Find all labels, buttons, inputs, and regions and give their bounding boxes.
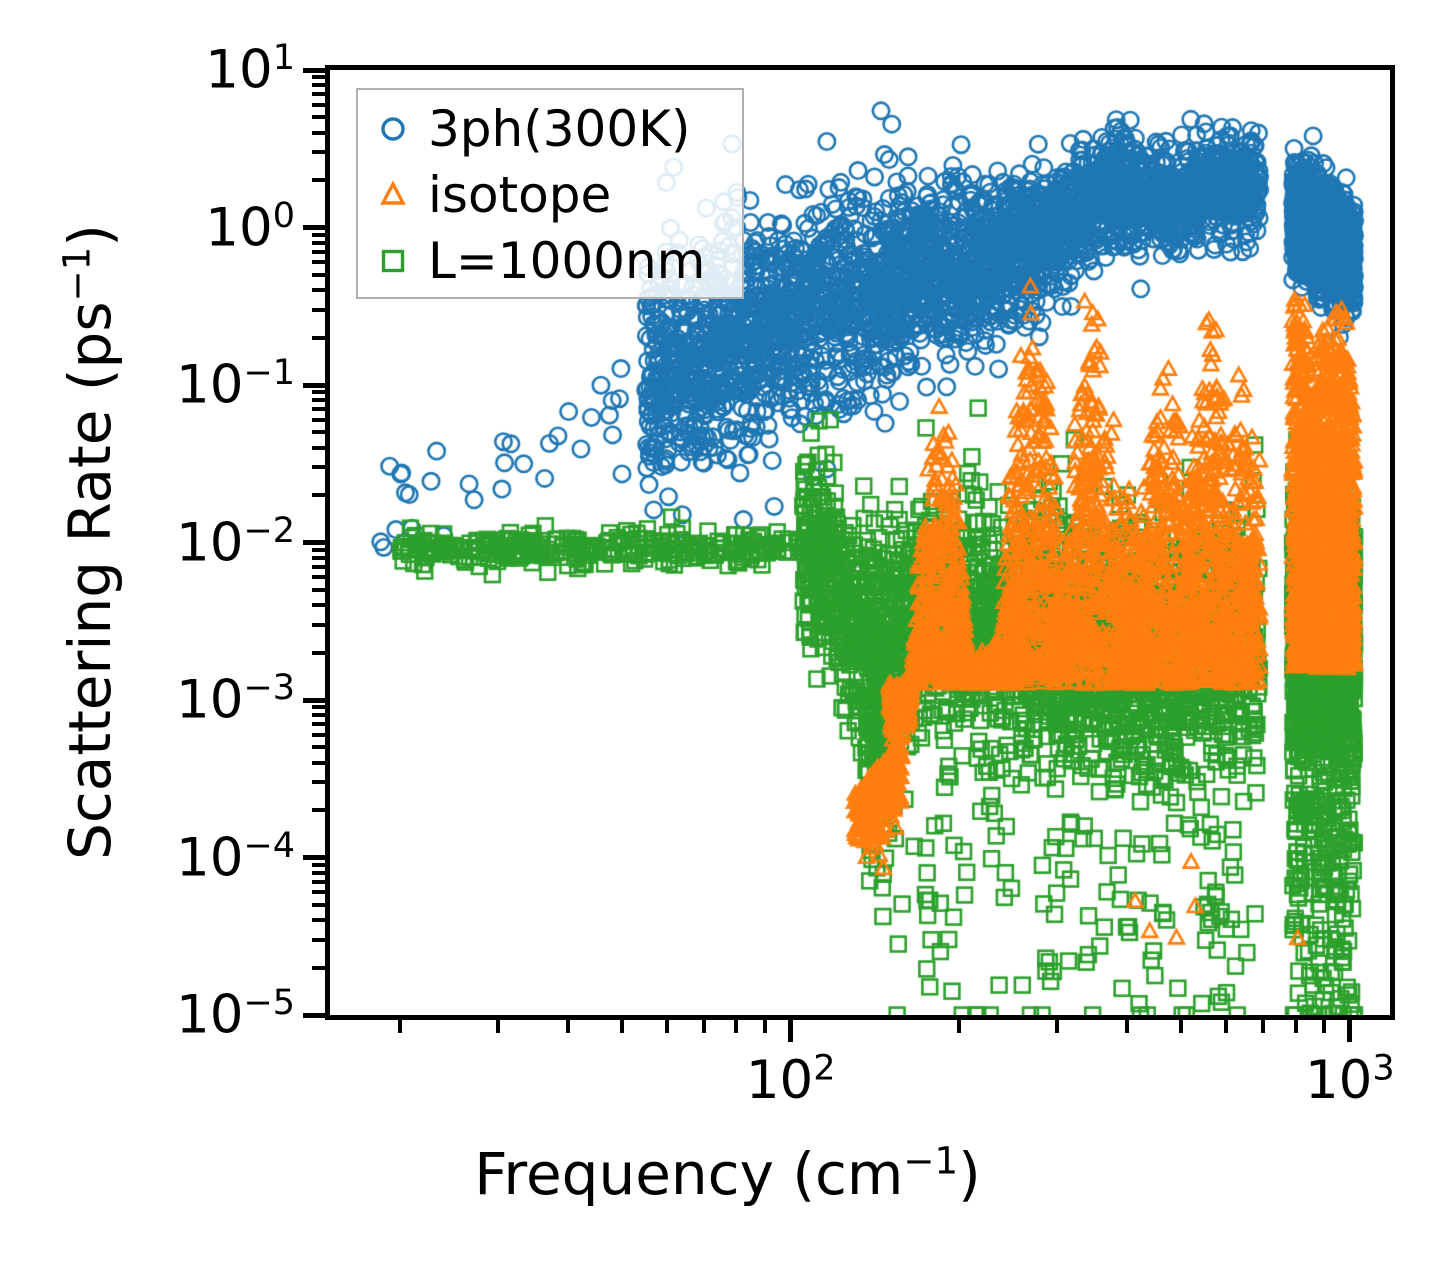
x-tick-minor [398, 1020, 402, 1033]
y-tick-label: 100 [205, 197, 295, 258]
legend-label-boundary: L=1000nm [428, 236, 705, 286]
legend-entry-boundary[interactable]: L=1000nm [358, 228, 742, 294]
y-tick-minor [312, 548, 325, 552]
y-tick-minor [312, 745, 325, 749]
y-tick-minor [312, 808, 325, 812]
y-tick-major [303, 225, 325, 230]
y-tick-label: 10−1 [176, 355, 295, 416]
y-tick-minor [312, 336, 325, 340]
x-tick-minor [702, 1020, 706, 1033]
y-tick-minor [312, 565, 325, 569]
y-tick-major [303, 383, 325, 388]
y-tick-major [303, 698, 325, 703]
y-tick-minor [312, 273, 325, 277]
y-tick-label-exponent: −4 [243, 825, 295, 865]
y-tick-label-base: 10 [205, 40, 272, 101]
square-marker-icon [358, 228, 428, 294]
x-tick-minor [1294, 1020, 1298, 1033]
x-tick-minor [734, 1020, 738, 1033]
y-tick-major [303, 540, 325, 545]
y-tick-minor [312, 890, 325, 894]
y-tick-minor [312, 233, 325, 237]
y-tick-label: 101 [205, 40, 295, 101]
x-tick-label: 103 [1305, 1050, 1395, 1111]
x-tick-minor [620, 1020, 624, 1033]
y-tick-label-exponent: −2 [243, 510, 295, 550]
y-tick-minor [312, 871, 325, 875]
x-axis-title-base: Frequency (cm [474, 1140, 903, 1208]
y-tick-minor [312, 575, 325, 579]
x-tick-minor [763, 1020, 767, 1033]
x-tick-minor [566, 1020, 570, 1033]
y-tick-minor [312, 115, 325, 119]
x-tick-minor [1055, 1020, 1059, 1033]
y-tick-label: 10−5 [176, 985, 295, 1046]
y-tick-label-base: 10 [205, 197, 272, 258]
y-tick-minor [312, 83, 325, 87]
y-tick-label: 10−2 [176, 512, 295, 573]
y-tick-minor [312, 588, 325, 592]
y-tick-minor [312, 241, 325, 245]
y-tick-minor [312, 446, 325, 450]
x-tick-major [788, 1020, 793, 1042]
y-tick-minor [312, 918, 325, 922]
y-tick-label-base: 10 [176, 827, 243, 888]
y-tick-minor [312, 407, 325, 411]
scatter-plot-figure: 10110010−110−210−310−410−5102103 3ph(300… [0, 0, 1455, 1271]
y-tick-minor [312, 398, 325, 402]
x-tick-major [1347, 1020, 1352, 1042]
y-axis-title: Scattering Rate (ps−1) [56, 142, 124, 942]
legend-entry-isotope[interactable]: isotope [358, 162, 742, 228]
x-tick-minor [957, 1020, 961, 1033]
y-tick-minor [312, 493, 325, 497]
y-tick-minor [312, 260, 325, 264]
legend-label-isotope: isotope [428, 170, 611, 220]
y-tick-minor [312, 705, 325, 709]
y-tick-label-exponent: −5 [243, 983, 295, 1023]
x-tick-label-base: 10 [1305, 1050, 1372, 1111]
x-axis-title: Frequency (cm−1) [0, 1140, 1455, 1208]
y-tick-label-base: 10 [176, 355, 243, 416]
y-tick-major [303, 855, 325, 860]
y-tick-minor [312, 780, 325, 784]
y-tick-minor [312, 288, 325, 292]
y-tick-minor [312, 308, 325, 312]
y-tick-major [303, 1013, 325, 1018]
y-tick-minor [312, 250, 325, 254]
y-tick-minor [312, 465, 325, 469]
x-tick-minor [1224, 1020, 1228, 1033]
x-tick-label-exponent: 2 [813, 1048, 835, 1088]
y-tick-label-exponent: −1 [243, 353, 295, 393]
y-tick-label-exponent: 1 [273, 38, 295, 78]
x-tick-label-base: 10 [746, 1050, 813, 1111]
y-tick-minor [312, 733, 325, 737]
y-tick-minor [312, 418, 325, 422]
y-axis-title-tail: ) [56, 224, 124, 247]
y-tick-minor [312, 390, 325, 394]
y-tick-minor [312, 722, 325, 726]
x-tick-minor [665, 1020, 669, 1033]
y-tick-minor [312, 178, 325, 182]
y-tick-minor [312, 880, 325, 884]
legend-box[interactable]: 3ph(300K) isotope L=1000nm [356, 88, 744, 299]
y-tick-minor [312, 150, 325, 154]
y-tick-label-base: 10 [176, 985, 243, 1046]
y-tick-minor [312, 131, 325, 135]
y-tick-minor [312, 103, 325, 107]
x-tick-minor [1261, 1020, 1265, 1033]
y-tick-minor [312, 938, 325, 942]
circle-marker-icon [358, 96, 428, 162]
legend-label-3ph: 3ph(300K) [428, 104, 690, 154]
y-tick-minor [312, 713, 325, 717]
y-tick-minor [312, 651, 325, 655]
y-tick-label: 10−3 [176, 670, 295, 731]
x-axis-title-tail: ) [958, 1140, 981, 1208]
y-tick-minor [312, 430, 325, 434]
y-tick-label-base: 10 [176, 670, 243, 731]
legend-entry-3ph[interactable]: 3ph(300K) [358, 96, 742, 162]
y-tick-minor [312, 966, 325, 970]
y-tick-minor [312, 556, 325, 560]
y-tick-minor [312, 863, 325, 867]
x-tick-minor [1179, 1020, 1183, 1033]
y-tick-label-exponent: −3 [243, 668, 295, 708]
y-axis-title-base: Scattering Rate (ps [56, 301, 124, 859]
y-tick-minor [312, 623, 325, 627]
y-tick-minor [312, 761, 325, 765]
x-tick-minor [1322, 1020, 1326, 1033]
triangle-marker-icon [358, 162, 428, 228]
y-axis-title-exponent: −1 [56, 247, 99, 302]
y-tick-major [303, 68, 325, 73]
y-tick-minor [312, 75, 325, 79]
x-tick-minor [1125, 1020, 1129, 1033]
x-tick-label-exponent: 3 [1372, 1048, 1394, 1088]
y-tick-minor [312, 92, 325, 96]
y-tick-label-base: 10 [176, 512, 243, 573]
x-tick-minor [496, 1020, 500, 1033]
y-tick-label-exponent: 0 [273, 195, 295, 235]
x-tick-label: 102 [746, 1050, 836, 1111]
y-tick-minor [312, 603, 325, 607]
x-axis-title-exponent: −1 [903, 1140, 958, 1183]
y-tick-label: 10−4 [176, 827, 295, 888]
y-tick-minor [312, 903, 325, 907]
